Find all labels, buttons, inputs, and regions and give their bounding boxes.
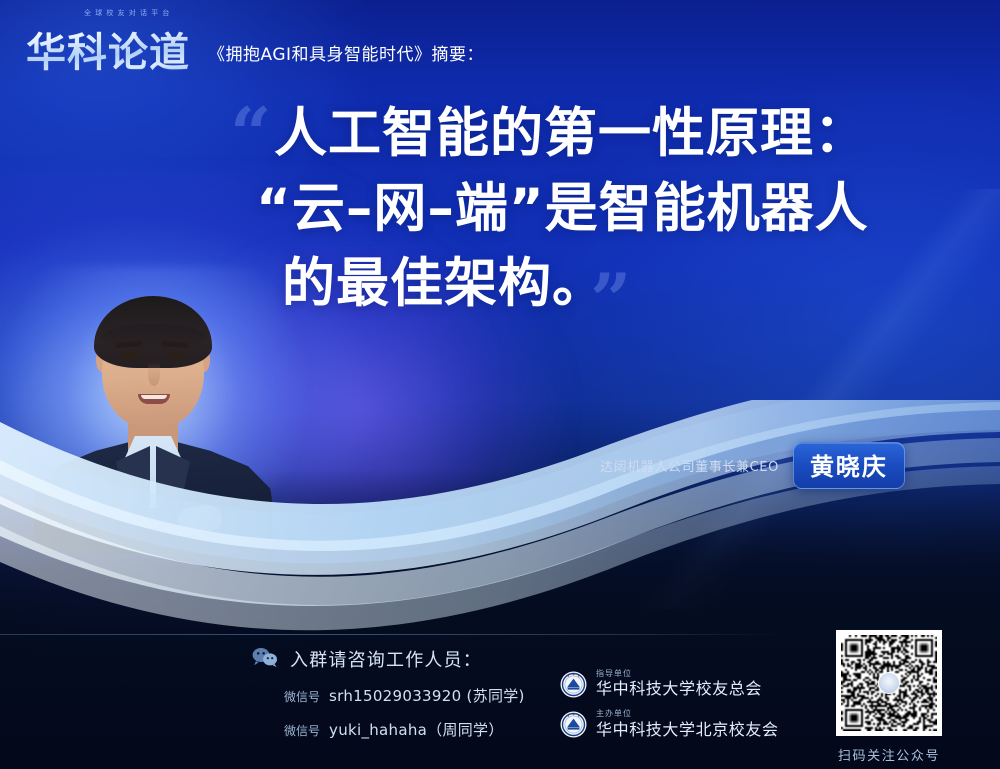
qr-section: 扫码关注公众号 [836, 630, 942, 764]
contact-section: 入群请咨询工作人员： 微信号 srh15029033920 (苏同学) 微信号 … [252, 646, 525, 740]
wechat-label-2: 微信号 [284, 722, 320, 739]
brand-logo[interactable]: 全球校友对话平台 华科论道 [26, 10, 190, 78]
wechat-icon [252, 647, 278, 672]
footer: 入群请咨询工作人员： 微信号 srh15029033920 (苏同学) 微信号 … [0, 640, 1000, 769]
logo-tagline: 全球校友对话平台 [84, 8, 174, 18]
qr-center-logo [878, 672, 900, 694]
qr-code-icon[interactable] [836, 630, 942, 736]
qr-caption: 扫码关注公众号 [836, 745, 942, 764]
speaker-attribution: 达闼机器人公司董事长兼CEO 黄晓庆 [600, 442, 905, 489]
header-bar: 全球校友对话平台 华科论道 《拥抱AGI和具身智能时代》摘要： [0, 0, 1000, 88]
logo-text: 华科论道 [26, 20, 190, 78]
quote-line-2: “云–网–端”是智能机器人 [256, 171, 974, 246]
organization-kind-1: 指导单位 [596, 670, 762, 678]
organization-name-2: 华中科技大学北京校友会 [596, 722, 779, 739]
portrait-eye-left [119, 353, 140, 360]
speaker-name-badge: 黄晓庆 [793, 442, 905, 489]
organization-kind-2: 主办单位 [596, 710, 779, 718]
quote-open-mark: “ [230, 98, 271, 170]
wave-ribbons [0, 400, 1000, 660]
quote-line-1: 人工智能的第一性原理： [274, 96, 974, 171]
wechat-id-2: yuki_hahaha（周同学） [329, 719, 504, 740]
hust-alumni-seal-icon [560, 671, 587, 698]
hust-beijing-alumni-seal-icon [560, 711, 587, 738]
portrait-nose [148, 362, 160, 386]
organizations-section: 指导单位 华中科技大学校友总会 [560, 670, 779, 750]
quote-close-mark: ” [590, 264, 631, 336]
organization-name-1: 华中科技大学校友总会 [596, 681, 762, 698]
portrait-eye-right [165, 353, 186, 360]
header-subtitle: 《拥抱AGI和具身智能时代》摘要： [208, 40, 484, 65]
organization-text-1: 指导单位 华中科技大学校友总会 [596, 670, 762, 698]
contact-header: 入群请咨询工作人员： [252, 646, 525, 672]
footer-divider [0, 634, 786, 635]
contact-title: 入群请咨询工作人员： [290, 646, 482, 672]
poster-canvas: 全球校友对话平台 华科论道 《拥抱AGI和具身智能时代》摘要： “ 人工智能的第… [0, 0, 1000, 769]
organization-text-2: 主办单位 华中科技大学北京校友会 [596, 710, 779, 738]
wechat-id-1: srh15029033920 (苏同学) [329, 685, 525, 706]
contact-row-2[interactable]: 微信号 yuki_hahaha（周同学） [284, 719, 525, 740]
organization-item-2: 主办单位 华中科技大学北京校友会 [560, 710, 779, 738]
wechat-label-1: 微信号 [284, 688, 320, 705]
speaker-role: 达闼机器人公司董事长兼CEO [600, 456, 779, 475]
contact-row-1[interactable]: 微信号 srh15029033920 (苏同学) [284, 685, 525, 706]
organization-item-1: 指导单位 华中科技大学校友总会 [560, 670, 779, 698]
